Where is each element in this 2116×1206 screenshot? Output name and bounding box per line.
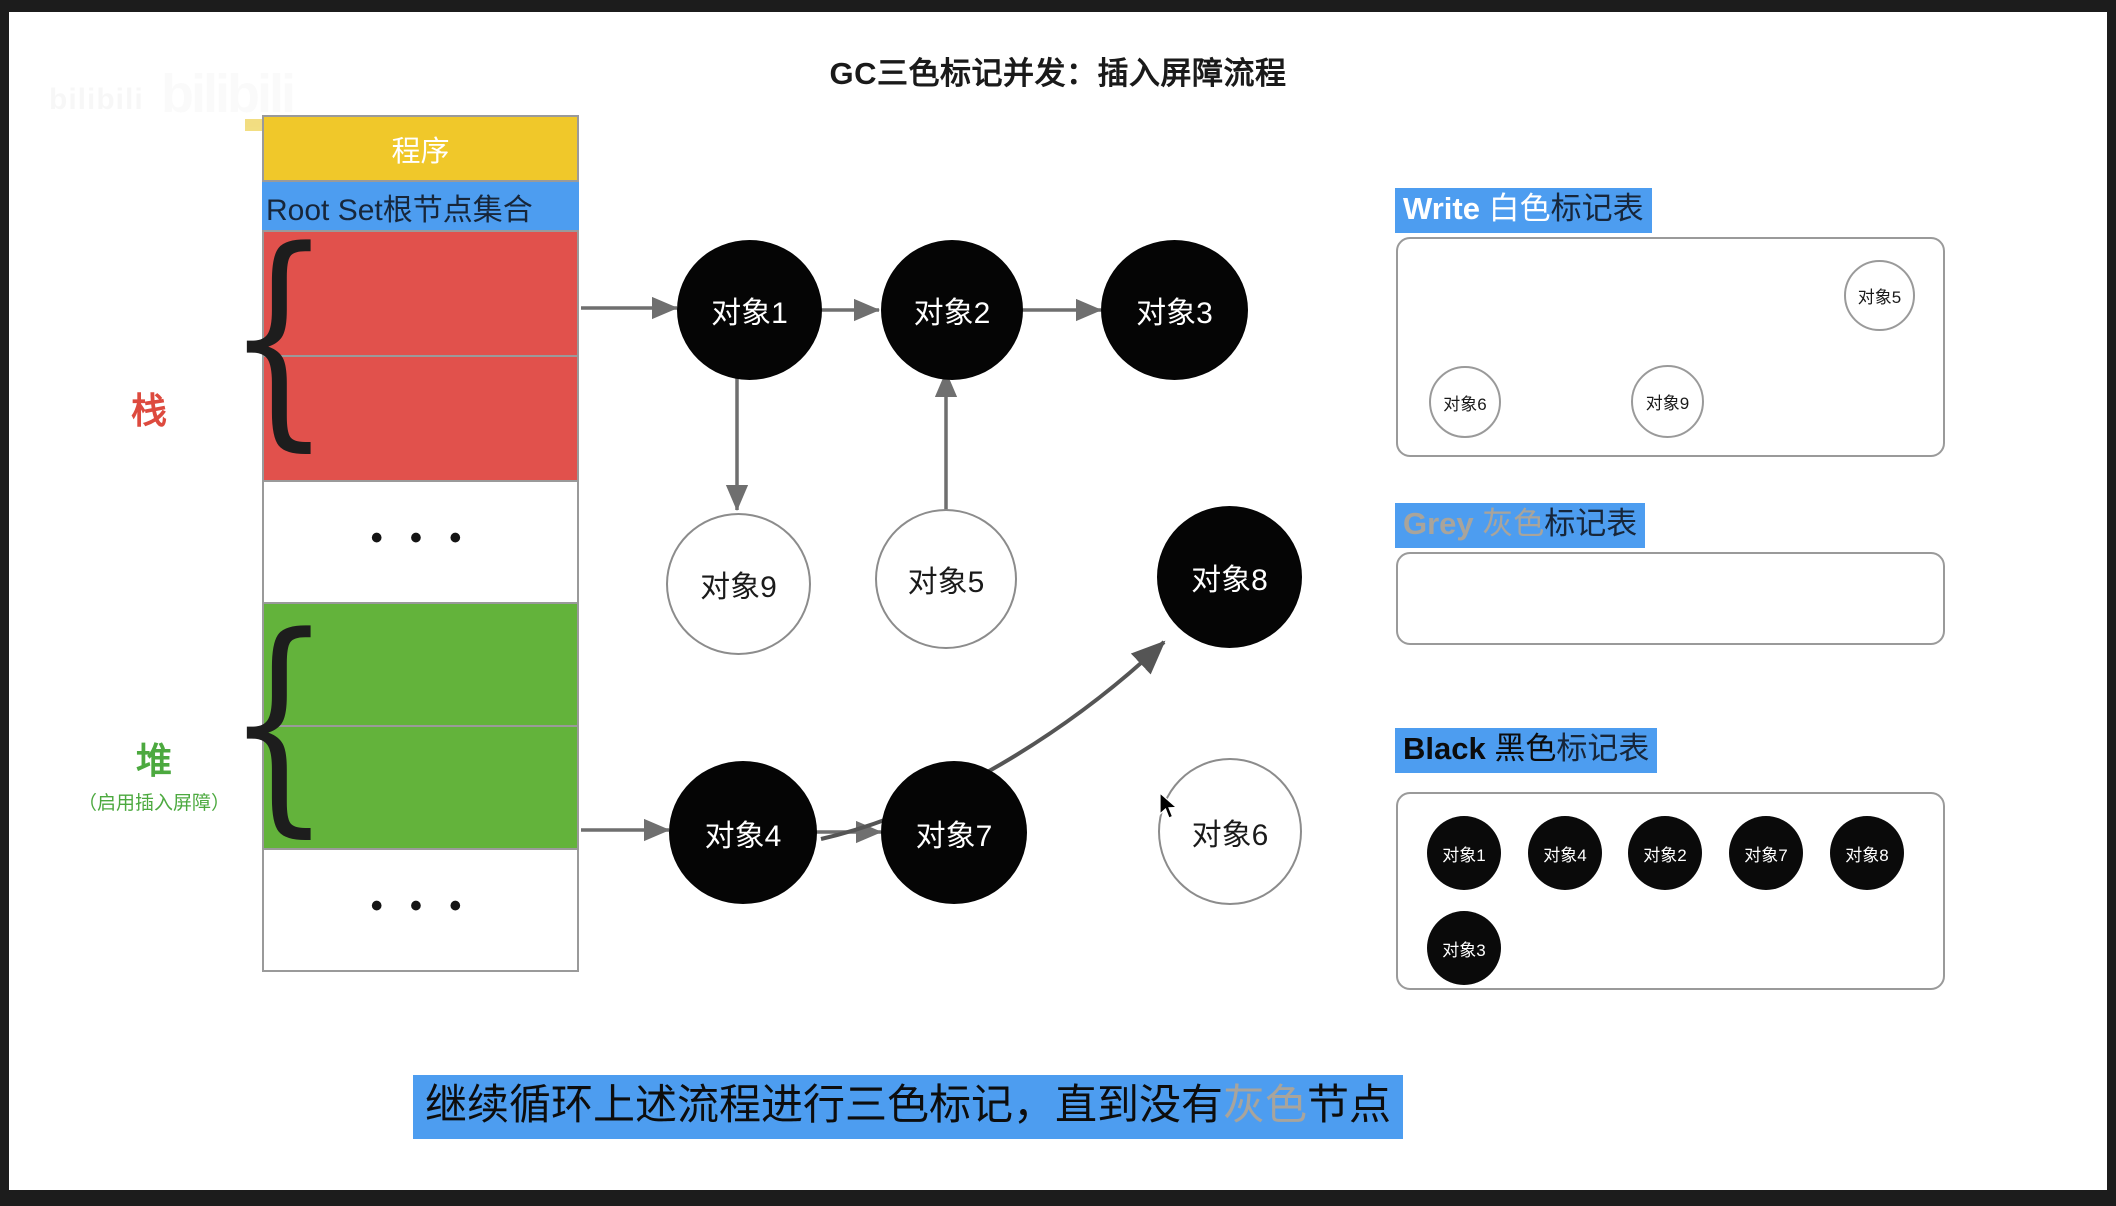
heap-label-group: 堆 （启用插入屏障） (69, 732, 239, 815)
caption-banner: 继续循环上述流程进行三色标记，直到没有灰色节点 (413, 1075, 1403, 1139)
graph-node-label: 对象2 (914, 288, 991, 332)
graph-node-obj1[interactable]: 对象1 (677, 240, 822, 380)
grey-table-title: Grey 灰色标记表 (1395, 503, 1645, 548)
graph-node-label: 对象6 (1192, 810, 1269, 854)
stack-ellipsis: • • • (371, 519, 471, 558)
heap-sublabel: （启用插入屏障） (69, 788, 239, 815)
chip-label: 对象2 (1643, 841, 1686, 866)
black-table-item[interactable]: 对象3 (1427, 911, 1501, 985)
graph-node-obj5[interactable]: 对象5 (875, 509, 1017, 649)
graph-node-label: 对象7 (916, 811, 993, 855)
heap-brace: { (226, 607, 331, 840)
heap-label: 堆 (69, 732, 239, 784)
white-table-item[interactable]: 对象9 (1631, 365, 1704, 438)
graph-node-label: 对象3 (1136, 288, 1213, 332)
graph-node-label: 对象9 (700, 562, 777, 606)
white-table-title-suffix: 标记表 (1551, 191, 1644, 226)
chip-label: 对象8 (1845, 841, 1888, 866)
white-table-box: 对象5 对象6 对象9 (1396, 237, 1945, 457)
grey-table-title-suffix: 标记表 (1544, 506, 1637, 541)
graph-node-obj8[interactable]: 对象8 (1157, 506, 1302, 648)
chip-label: 对象9 (1646, 389, 1689, 414)
caption-part2: 节点 (1307, 1081, 1391, 1128)
chip-label: 对象5 (1858, 283, 1901, 308)
white-table-title-cn: 白色 (1489, 191, 1551, 226)
program-cell: 程序 (262, 115, 579, 182)
white-table-item[interactable]: 对象6 (1429, 366, 1501, 438)
grey-table-title-cn: 灰色 (1482, 506, 1544, 541)
white-table-title-en: Write (1403, 191, 1480, 226)
video-frame: bilibili bilibili GC三色标记并发：插入屏障流程 (0, 0, 2116, 1206)
mouse-cursor (1159, 792, 1181, 822)
page-title: GC三色标记并发：插入屏障流程 (9, 48, 2107, 93)
stack-label: 栈 (131, 382, 167, 434)
graph-node-label: 对象1 (711, 288, 788, 332)
white-table-item[interactable]: 对象5 (1844, 260, 1915, 331)
graph-node-obj7[interactable]: 对象7 (881, 761, 1027, 904)
caption-highlight: 灰色 (1223, 1081, 1307, 1128)
chip-label: 对象6 (1443, 390, 1486, 415)
graph-node-obj3[interactable]: 对象3 (1101, 240, 1248, 380)
black-table-title-en: Black (1403, 731, 1486, 766)
chip-label: 对象4 (1543, 841, 1586, 866)
black-table-item[interactable]: 对象4 (1528, 816, 1602, 890)
white-table-title: Write 白色标记表 (1395, 188, 1652, 233)
stack-brace: { (226, 221, 331, 454)
grey-table-title-en: Grey (1403, 506, 1474, 541)
black-table-title: Black 黑色标记表 (1395, 728, 1657, 773)
black-table-item[interactable]: 对象8 (1830, 816, 1904, 890)
black-table-item[interactable]: 对象1 (1427, 816, 1501, 890)
heap-ellipsis: • • • (371, 887, 471, 926)
black-table-box: 对象1 对象4 对象2 对象7 对象8 对象3 (1396, 792, 1945, 990)
stack-ellipsis-cell: • • • (262, 480, 579, 604)
caption-part1: 继续循环上述流程进行三色标记，直到没有 (425, 1081, 1223, 1128)
black-table-title-cn: 黑色 (1494, 731, 1556, 766)
black-table-item[interactable]: 对象7 (1729, 816, 1803, 890)
graph-node-label: 对象4 (705, 811, 782, 855)
graph-node-obj4[interactable]: 对象4 (669, 761, 817, 904)
chip-label: 对象3 (1442, 936, 1485, 961)
chip-label: 对象1 (1442, 841, 1485, 866)
graph-node-obj2[interactable]: 对象2 (881, 240, 1023, 380)
graph-node-label: 对象8 (1191, 555, 1268, 599)
chip-label: 对象7 (1744, 841, 1787, 866)
heap-ellipsis-cell: • • • (262, 848, 579, 972)
black-table-title-suffix: 标记表 (1556, 731, 1649, 766)
graph-node-obj9[interactable]: 对象9 (666, 513, 811, 655)
slide-canvas: bilibili bilibili GC三色标记并发：插入屏障流程 (9, 12, 2107, 1190)
grey-table-box (1396, 552, 1945, 645)
graph-node-obj6[interactable]: 对象6 (1158, 758, 1302, 905)
graph-node-label: 对象5 (908, 557, 985, 601)
program-label: 程序 (391, 128, 449, 170)
black-table-item[interactable]: 对象2 (1628, 816, 1702, 890)
